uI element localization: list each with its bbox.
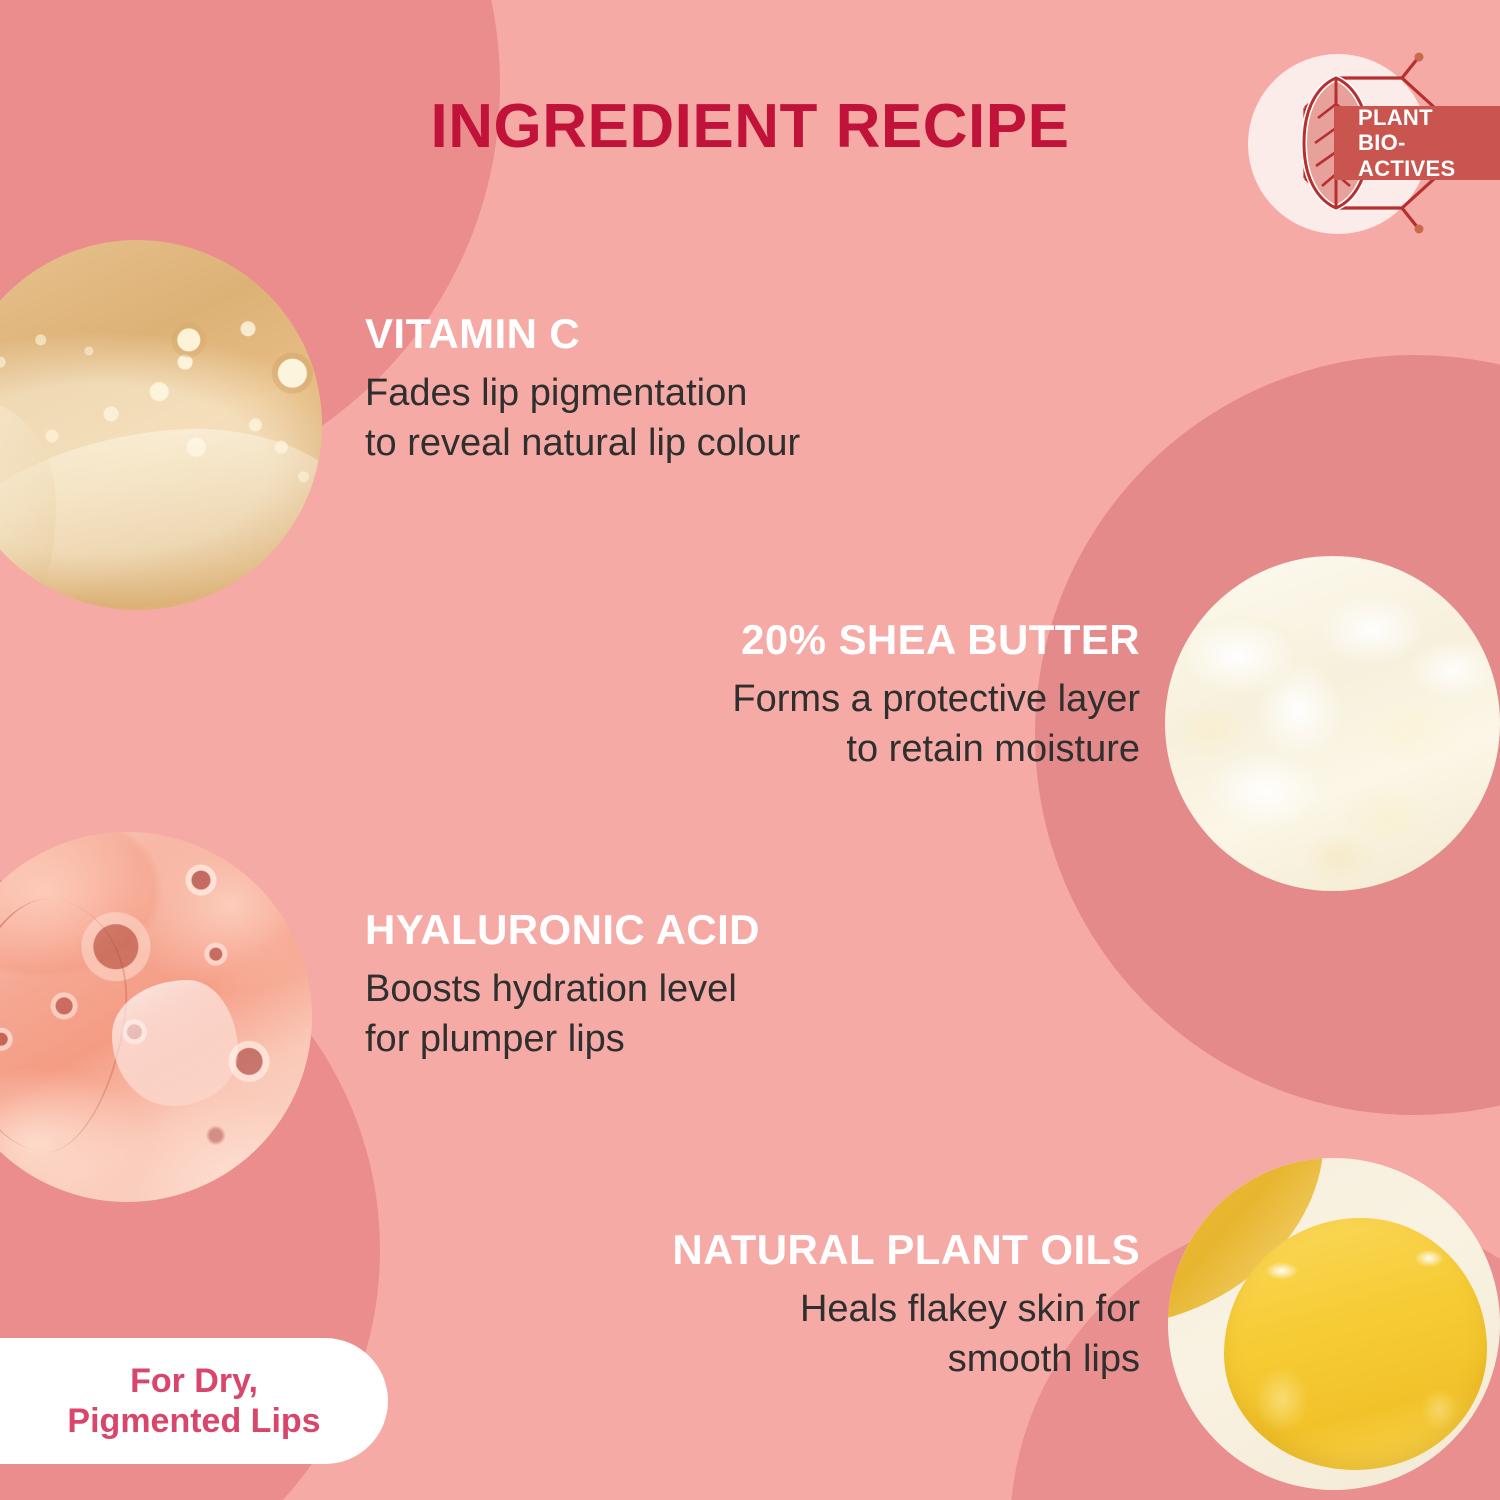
- ingredient-block-shea-butter: 20% SHEA BUTTER Forms a protective layer…: [520, 618, 1140, 774]
- ingredient-image-shea-butter: [1165, 556, 1500, 891]
- ingredient-recipe-poster: INGREDIENT RECIPE PLANT BIO-ACTIVES: [0, 0, 1500, 1500]
- ingredient-desc-line-2: for plumper lips: [365, 1014, 1005, 1064]
- ingredient-image-natural-plant-oils: [1168, 1158, 1500, 1490]
- badge-banner: PLANT BIO-ACTIVES: [1334, 106, 1500, 180]
- ingredient-name: VITAMIN C: [365, 312, 1005, 356]
- ingredient-desc-line-2: to retain moisture: [520, 724, 1140, 774]
- ingredient-block-hyaluronic-acid: HYALURONIC ACID Boosts hydration level f…: [365, 908, 1005, 1064]
- ingredient-desc-line-1: Forms a protective layer: [520, 674, 1140, 724]
- ingredient-block-natural-plant-oils: NATURAL PLANT OILS Heals flakey skin for…: [520, 1228, 1140, 1384]
- pill-line-2: Pigmented Lips: [67, 1401, 320, 1441]
- shea-butter-texture: [1165, 556, 1500, 891]
- plant-bio-actives-badge: PLANT BIO-ACTIVES: [1242, 48, 1500, 238]
- ingredient-image-vitamin-c: [0, 240, 322, 610]
- badge-line-1: PLANT: [1358, 105, 1500, 130]
- pill-line-1: For Dry,: [130, 1361, 258, 1401]
- gel-highlight: [112, 980, 238, 1106]
- ingredient-desc-line-2: smooth lips: [520, 1334, 1140, 1384]
- ingredient-image-hyaluronic-acid: [0, 832, 312, 1202]
- ingredient-desc-line-1: Boosts hydration level: [365, 964, 1005, 1014]
- ingredient-name: HYALURONIC ACID: [365, 908, 1005, 952]
- ingredient-block-vitamin-c: VITAMIN C Fades lip pigmentation to reve…: [365, 312, 1005, 468]
- badge-line-2: BIO-ACTIVES: [1358, 130, 1500, 181]
- ingredient-desc-line-1: Heals flakey skin for: [520, 1284, 1140, 1334]
- ingredient-name: NATURAL PLANT OILS: [520, 1228, 1140, 1272]
- ingredient-desc-line-1: Fades lip pigmentation: [365, 368, 1005, 418]
- ingredient-name: 20% SHEA BUTTER: [520, 618, 1140, 662]
- for-dry-pigmented-lips-pill: For Dry, Pigmented Lips: [0, 1338, 388, 1464]
- ingredient-desc-line-2: to reveal natural lip colour: [365, 418, 1005, 468]
